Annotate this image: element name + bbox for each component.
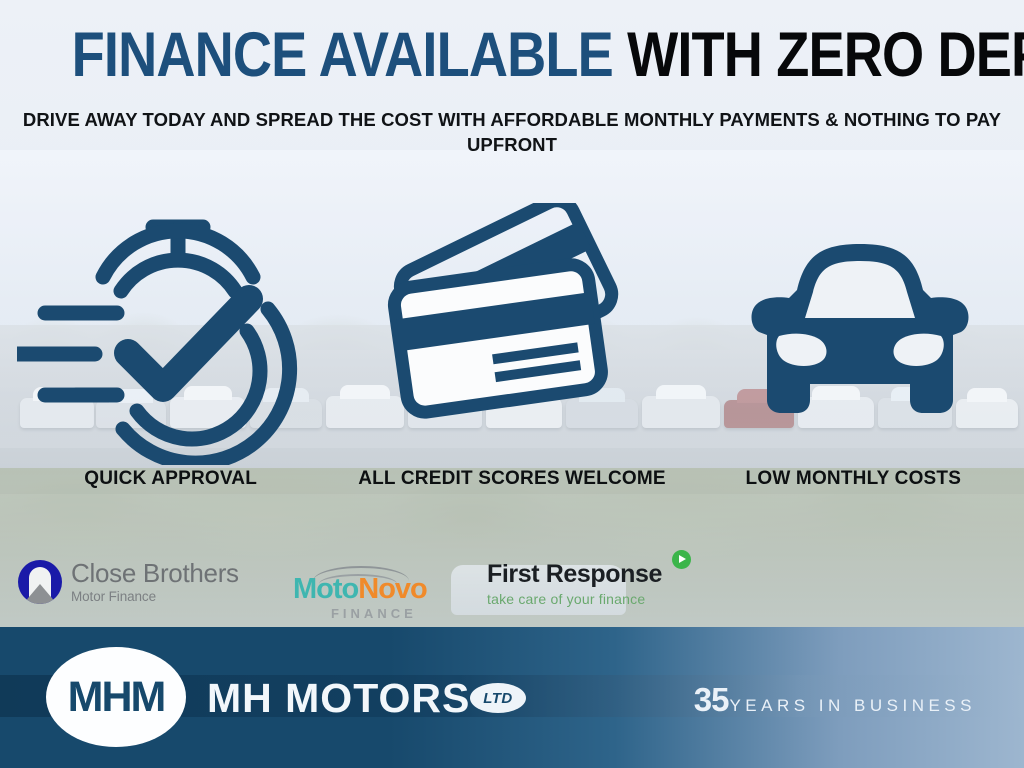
credit-cards-icon [382,200,642,468]
feature-label: LOW MONTHLY COSTS [746,468,962,490]
mhm-logo: MHM [46,647,186,747]
company-name: MH MOTORS [207,675,470,722]
feature-all-credit-scores: ALL CREDIT SCORES WELCOME [341,200,682,530]
lender-logo-motonovo: MotoNovo FINANCE [293,562,427,621]
headline-primary: FINANCE AVAILABLE [72,20,627,90]
years-number: 35 [694,683,729,716]
feature-low-monthly-costs: LOW MONTHLY COSTS [683,200,1024,530]
feature-label: QUICK APPROVAL [84,468,257,490]
lender-logo-close-brothers: Close Brothers Motor Finance [18,560,239,604]
lender-name: First Response [487,562,662,587]
page-title: FINANCE AVAILABLE WITH ZERO DEPOSIT [72,24,953,87]
close-brothers-mark-icon [18,560,62,604]
lender-tagline: FINANCE [331,606,417,621]
stopwatch-check-icon [17,200,317,468]
mhm-monogram: MHM [68,673,165,722]
page-subtitle: DRIVE AWAY TODAY AND SPREAD THE COST WIT… [22,108,1002,158]
feature-list: QUICK APPROVAL ALL CREDIT SCO [0,200,1024,530]
motonovo-car-swoosh-icon [305,562,415,578]
car-front-icon [735,200,985,468]
lender-tagline: Motor Finance [71,589,239,604]
ltd-badge: LTD [470,683,526,713]
lender-tagline: take care of your finance [487,591,645,607]
lender-name: Close Brothers [71,560,239,586]
years-text: YEARS IN BUSINESS [729,696,976,716]
brand-footer: MHM MH MOTORS LTD 35 YEARS IN BUSINESS [0,627,1024,768]
finance-promo-banner: FINANCE AVAILABLE WITH ZERO DEPOSIT DRIV… [0,0,1024,768]
lender-logo-row: Close Brothers Motor Finance MotoNovo FI… [0,556,1024,628]
years-in-business: 35 YEARS IN BUSINESS [694,683,976,716]
ltd-label: LTD [483,690,513,707]
feature-quick-approval: QUICK APPROVAL [0,200,341,530]
lender-logo-first-response: First Response take care of your finance [487,562,691,607]
play-circle-icon [672,550,691,569]
feature-label: ALL CREDIT SCORES WELCOME [358,468,666,490]
headline-secondary: WITH ZERO DEPOSIT [627,20,1024,90]
